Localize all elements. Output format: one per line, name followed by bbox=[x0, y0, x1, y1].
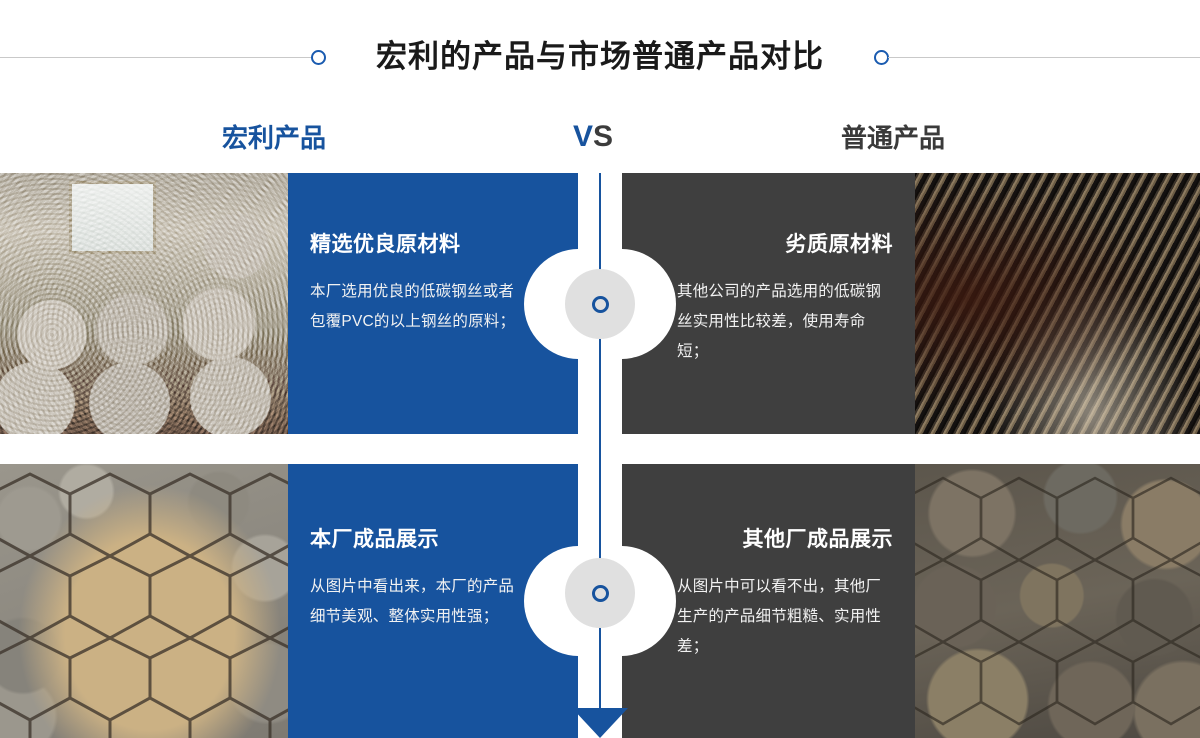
theirs-image-raw-material bbox=[915, 173, 1200, 434]
triangle-down-icon bbox=[572, 708, 628, 738]
ours-image-finished-product bbox=[0, 464, 288, 738]
photo-wire-coils bbox=[0, 173, 288, 434]
theirs-image-finished-product bbox=[915, 464, 1200, 738]
photo-gabion-dark bbox=[915, 464, 1200, 738]
ours-panel-title: 本厂成品展示 bbox=[310, 526, 439, 554]
ours-panel-body: 本厂选用优良的低碳钢丝或者包覆PVC的以上钢丝的原料； bbox=[310, 277, 526, 337]
theirs-panel-title: 劣质原材料 bbox=[786, 231, 894, 259]
circle-node-inner-ring bbox=[592, 296, 609, 313]
ours-text-panel: 本厂成品展示 从图片中看出来，本厂的产品细节美观、整体实用性强； bbox=[288, 464, 578, 738]
theirs-text-panel: 劣质原材料 其他公司的产品选用的低碳钢丝实用性比较差，使用寿命短； bbox=[622, 173, 915, 434]
column-heading-ours: 宏利产品 bbox=[222, 118, 326, 158]
ours-text-panel: 精选优良原材料 本厂选用优良的低碳钢丝或者包覆PVC的以上钢丝的原料； bbox=[288, 173, 578, 434]
theirs-panel-title: 其他厂成品展示 bbox=[743, 526, 894, 554]
vs-letter-s: S bbox=[593, 120, 613, 153]
theirs-panel-body: 从图片中可以看不出，其他厂生产的产品细节粗糙、实用性差； bbox=[677, 572, 893, 662]
theirs-text-panel: 其他厂成品展示 从图片中可以看不出，其他厂生产的产品细节粗糙、实用性差； bbox=[622, 464, 915, 738]
circle-node-icon bbox=[565, 269, 635, 339]
hex-mesh-overlay bbox=[0, 464, 288, 738]
circle-node-inner-ring bbox=[592, 585, 609, 602]
vs-letter-v: V bbox=[573, 120, 593, 153]
comparison-infographic: 宏利的产品与市场普通产品对比 宏利产品 VS 普通产品 精选优良原材料 本厂选用… bbox=[0, 0, 1200, 738]
circle-outline-icon bbox=[874, 50, 889, 65]
circle-node-icon bbox=[565, 558, 635, 628]
header-rule-right bbox=[888, 57, 1200, 58]
ours-image-raw-material bbox=[0, 173, 288, 434]
header: 宏利的产品与市场普通产品对比 bbox=[0, 0, 1200, 112]
ours-panel-body: 从图片中看出来，本厂的产品细节美观、整体实用性强； bbox=[310, 572, 526, 632]
theirs-panel-body: 其他公司的产品选用的低碳钢丝实用性比较差，使用寿命短； bbox=[677, 277, 893, 367]
warehouse-window bbox=[69, 181, 155, 254]
center-spine-line bbox=[599, 173, 601, 710]
photo-gabion-light bbox=[0, 464, 288, 738]
photo-rusty-wire bbox=[915, 173, 1200, 434]
ours-panel-title: 精选优良原材料 bbox=[310, 231, 461, 259]
vs-label: VS bbox=[573, 115, 613, 159]
column-heading-theirs: 普通产品 bbox=[841, 118, 945, 158]
hex-mesh-overlay bbox=[915, 464, 1200, 738]
